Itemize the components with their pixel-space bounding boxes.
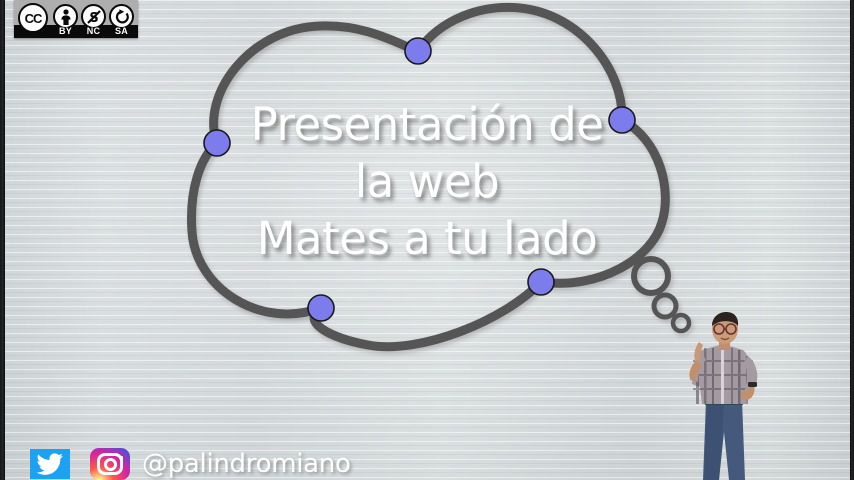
cc-sa-label: SA bbox=[106, 25, 137, 38]
instagram-flash-dot bbox=[120, 456, 124, 460]
cc-mark-label: CC bbox=[25, 11, 42, 26]
tail-bubble-medium bbox=[654, 295, 676, 317]
presentation-slide: Presentación de la web Mates a tu lado bbox=[0, 0, 854, 480]
left-frame-edge bbox=[0, 0, 5, 480]
jeans-left-leg bbox=[704, 400, 724, 480]
social-handle-text: @palindromiano bbox=[142, 449, 351, 479]
cloud-dot bbox=[405, 38, 431, 64]
page-title: Presentación de la web Mates a tu lado bbox=[192, 96, 662, 267]
cloud-dot bbox=[528, 269, 554, 295]
presenter-photo bbox=[676, 312, 772, 480]
instagram-lens bbox=[104, 458, 117, 471]
instagram-icon[interactable] bbox=[90, 448, 130, 480]
right-frame-edge bbox=[850, 0, 854, 480]
cc-nc-label: NC bbox=[78, 25, 109, 38]
title-line-1: Presentación de bbox=[192, 96, 662, 153]
wristwatch bbox=[748, 382, 757, 387]
shirt-placket bbox=[721, 348, 724, 404]
title-line-3: Mates a tu lado bbox=[192, 210, 662, 267]
creative-commons-license-badge[interactable]: CC S BY NC SA bbox=[14, 0, 138, 38]
social-handles-bar: @palindromiano bbox=[30, 448, 351, 480]
twitter-icon[interactable] bbox=[30, 449, 70, 479]
title-line-2: la web bbox=[192, 153, 662, 210]
cloud-dot bbox=[308, 295, 334, 321]
cc-by-label: BY bbox=[50, 25, 81, 38]
cc-logo-icon: CC bbox=[18, 3, 48, 33]
